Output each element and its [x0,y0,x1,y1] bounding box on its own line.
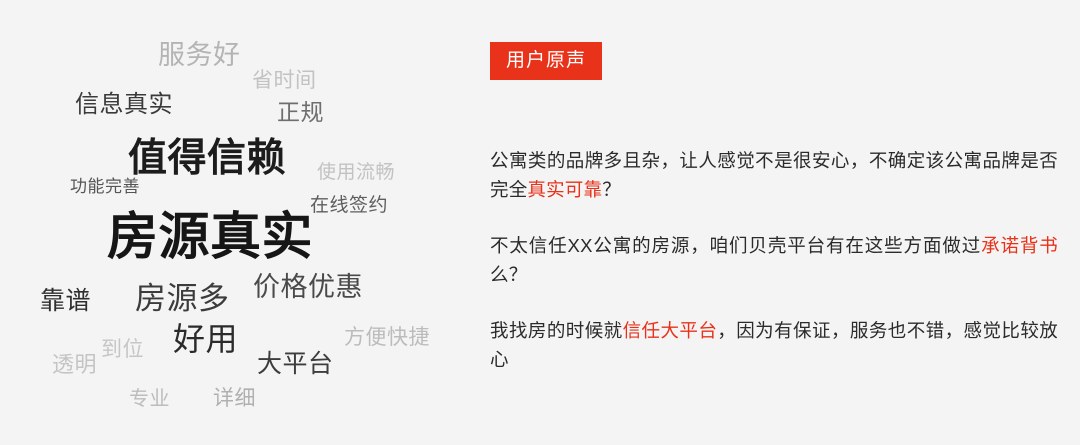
section-badge-user-voice: 用户原声 [490,42,602,80]
screen-root: 服务好省时间信息真实正规值得信赖使用流畅功能完善在线签约房源真实价格优惠房源多靠… [0,0,1080,445]
user-quote: 公寓类的品牌多且杂，让人感觉不是很安心，不确定该公寓品牌是否完全真实可靠？ [490,146,1058,204]
word-cloud-term: 信息真实 [75,93,173,117]
word-cloud-term: 房源真实 [107,211,313,262]
word-cloud: 服务好省时间信息真实正规值得信赖使用流畅功能完善在线签约房源真实价格优惠房源多靠… [0,0,460,445]
quote-text: 不太信任XX公寓的房源，咱们贝壳平台有在这些方面做过 [490,235,981,256]
word-cloud-term: 详细 [213,388,256,409]
user-quote: 我找房的时候就信任大平台，因为有保证，服务也不错，感觉比较放心 [490,316,1058,374]
word-cloud-term: 省时间 [252,70,317,91]
word-cloud-term: 大平台 [257,352,334,377]
word-cloud-term: 使用流畅 [317,163,395,182]
quote-highlight: 承诺背书 [981,235,1058,256]
word-cloud-term: 在线签约 [310,196,388,215]
word-cloud-term: 正规 [277,101,324,124]
quote-text: 么？ [490,264,527,285]
quote-highlight: 真实可靠 [527,179,602,200]
word-cloud-term: 值得信赖 [128,139,286,178]
quote-text: 我找房的时候就 [490,320,623,341]
word-cloud-term: 服务好 [158,42,241,69]
word-cloud-term: 价格优惠 [253,274,363,301]
quote-text: ？ [602,179,621,200]
word-cloud-term: 房源多 [135,283,230,314]
quote-list: 公寓类的品牌多且杂，让人感觉不是很安心，不确定该公寓品牌是否完全真实可靠？不太信… [490,127,1058,374]
word-cloud-term: 靠谱 [40,289,91,314]
word-cloud-term: 好用 [173,323,238,355]
user-quote: 不太信任XX公寓的房源，咱们贝壳平台有在这些方面做过承诺背书么？ [490,231,1058,289]
word-cloud-term: 功能完善 [70,178,140,195]
quote-highlight: 信任大平台 [623,320,718,341]
word-cloud-term: 到位 [101,339,144,360]
user-quotes-panel: 用户原声 公寓类的品牌多且杂，让人感觉不是很安心，不确定该公寓品牌是否完全真实可… [490,0,1060,445]
word-cloud-term: 专业 [129,389,170,409]
word-cloud-term: 透明 [52,354,97,376]
word-cloud-term: 方便快捷 [344,327,430,348]
